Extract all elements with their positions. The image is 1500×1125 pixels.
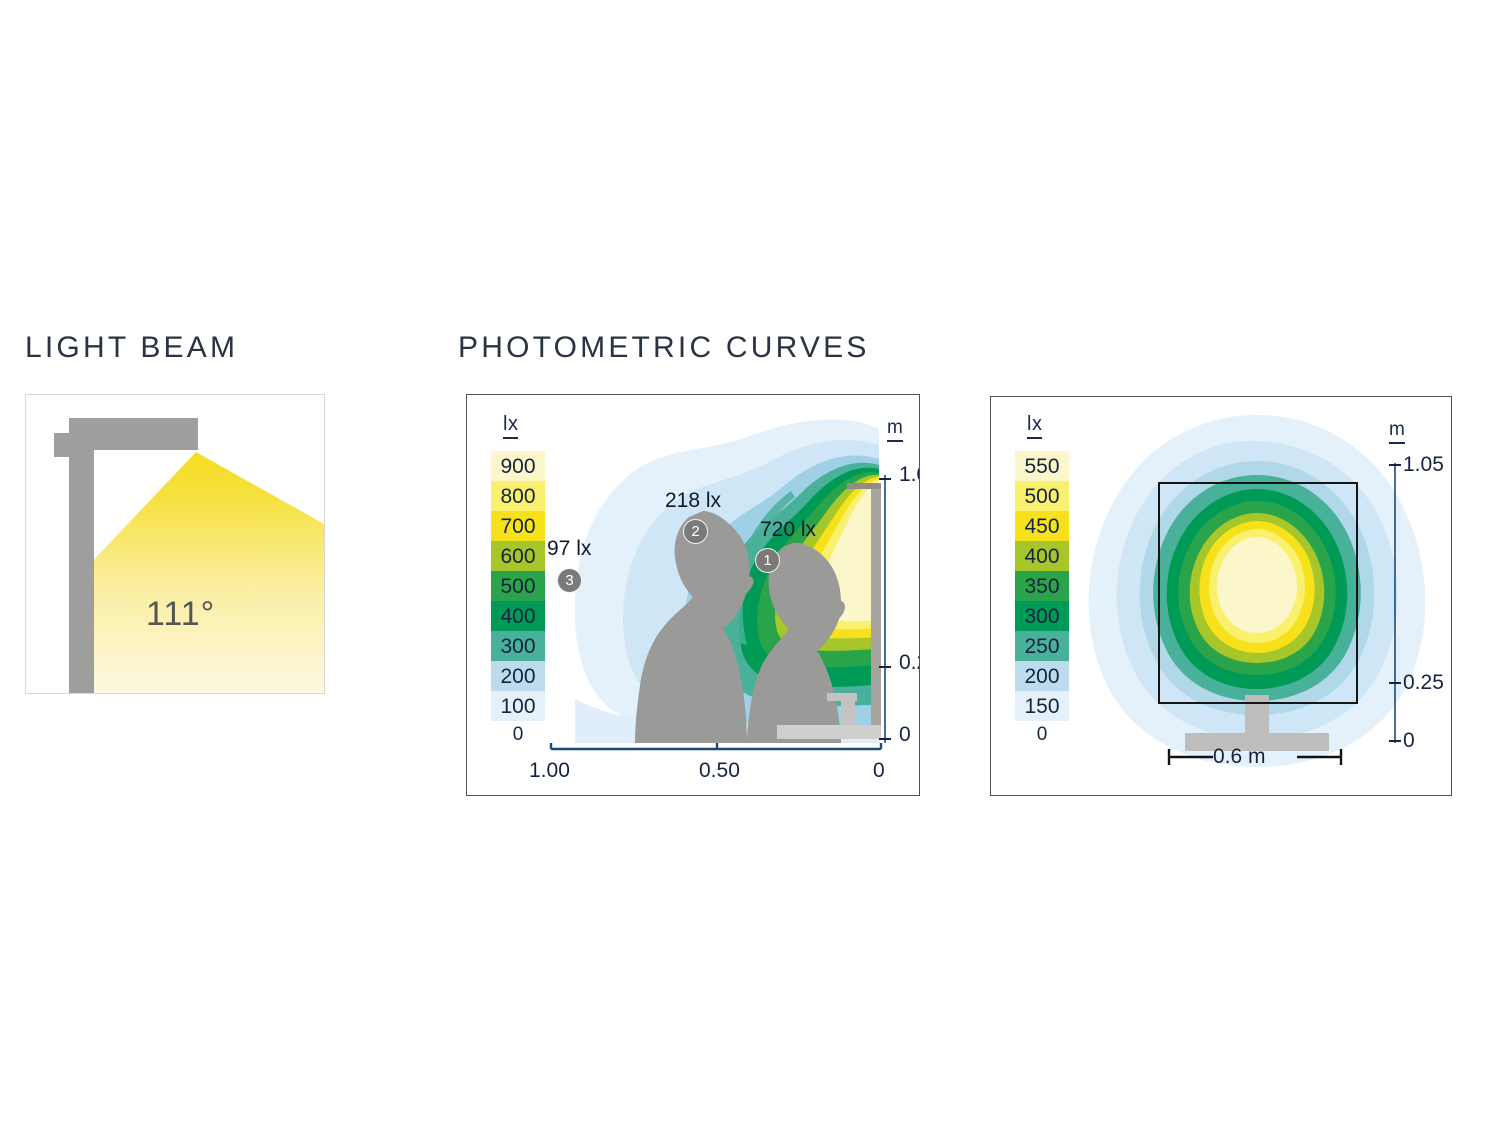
photometric-chart-front-view: lx 550 500 450 400 350 300 250 200 150 0 [990,396,1452,796]
beam-angle-label: 111° [146,595,215,634]
legend-swatch-550: 550 [1015,451,1069,481]
x-tick-side-0: 0 [873,759,885,783]
scale-bar-label: 0.6 m [1213,745,1266,769]
legend-swatch-350: 350 [1015,571,1069,601]
y-tick-side-105: 1.05 [899,463,920,487]
callout-label-218lx: 218 lx [665,489,721,513]
legend-swatch-500: 500 [491,571,545,601]
photometric-chart-side-view: lx 900 800 700 600 500 400 300 200 100 0 [466,394,920,796]
legend-swatch-200: 200 [1015,661,1069,691]
legend-swatch-200: 200 [491,661,545,691]
callout-label-97lx: 97 lx [547,537,591,561]
light-beam-panel: 111° [25,394,325,694]
x-tick-side-100: 1.00 [529,759,570,783]
legend-swatch-800: 800 [491,481,545,511]
legend-swatch-0-front: 0 [1015,721,1069,749]
legend-swatch-450: 450 [1015,511,1069,541]
legend-swatch-150: 150 [1015,691,1069,721]
callout-label-720lx: 720 lx [760,518,816,542]
side-view-contour-graphic [541,399,919,761]
legend-unit-lx: lx [503,413,518,439]
legend-swatch-500: 500 [1015,481,1069,511]
legend-swatch-400: 400 [1015,541,1069,571]
legend-unit-lx-front: lx [1027,413,1042,439]
front-m-axis [1389,443,1419,763]
page-title-light-beam: LIGHT BEAM [25,331,238,365]
legend-swatch-400: 400 [491,601,545,631]
y-tick-front-105: 1.05 [1403,453,1444,477]
x-tick-side-050: 0.50 [699,759,740,783]
legend-swatch-700: 700 [491,511,545,541]
legend-swatch-100: 100 [491,691,545,721]
legend-swatch-300: 300 [491,631,545,661]
callout-badge-2: 2 [683,519,708,544]
y-tick-side-0: 0 [899,723,911,747]
legend-swatch-250: 250 [1015,631,1069,661]
legend-swatch-900: 900 [491,451,545,481]
legend-swatch-300: 300 [1015,601,1069,631]
y-tick-side-025: 0.25 [899,651,920,675]
wall-luminaire-silhouette [26,395,324,693]
y-tick-front-0: 0 [1403,729,1415,753]
page-title-photometric-curves: PHOTOMETRIC CURVES [458,331,870,365]
legend-swatch-0: 0 [491,721,545,749]
axis-unit-m-side: m [887,417,903,442]
legend-swatch-600: 600 [491,541,545,571]
callout-badge-1: 1 [755,548,780,573]
y-tick-front-025: 0.25 [1403,671,1444,695]
callout-badge-3: 3 [557,568,582,593]
axis-unit-m-front: m [1389,419,1405,444]
